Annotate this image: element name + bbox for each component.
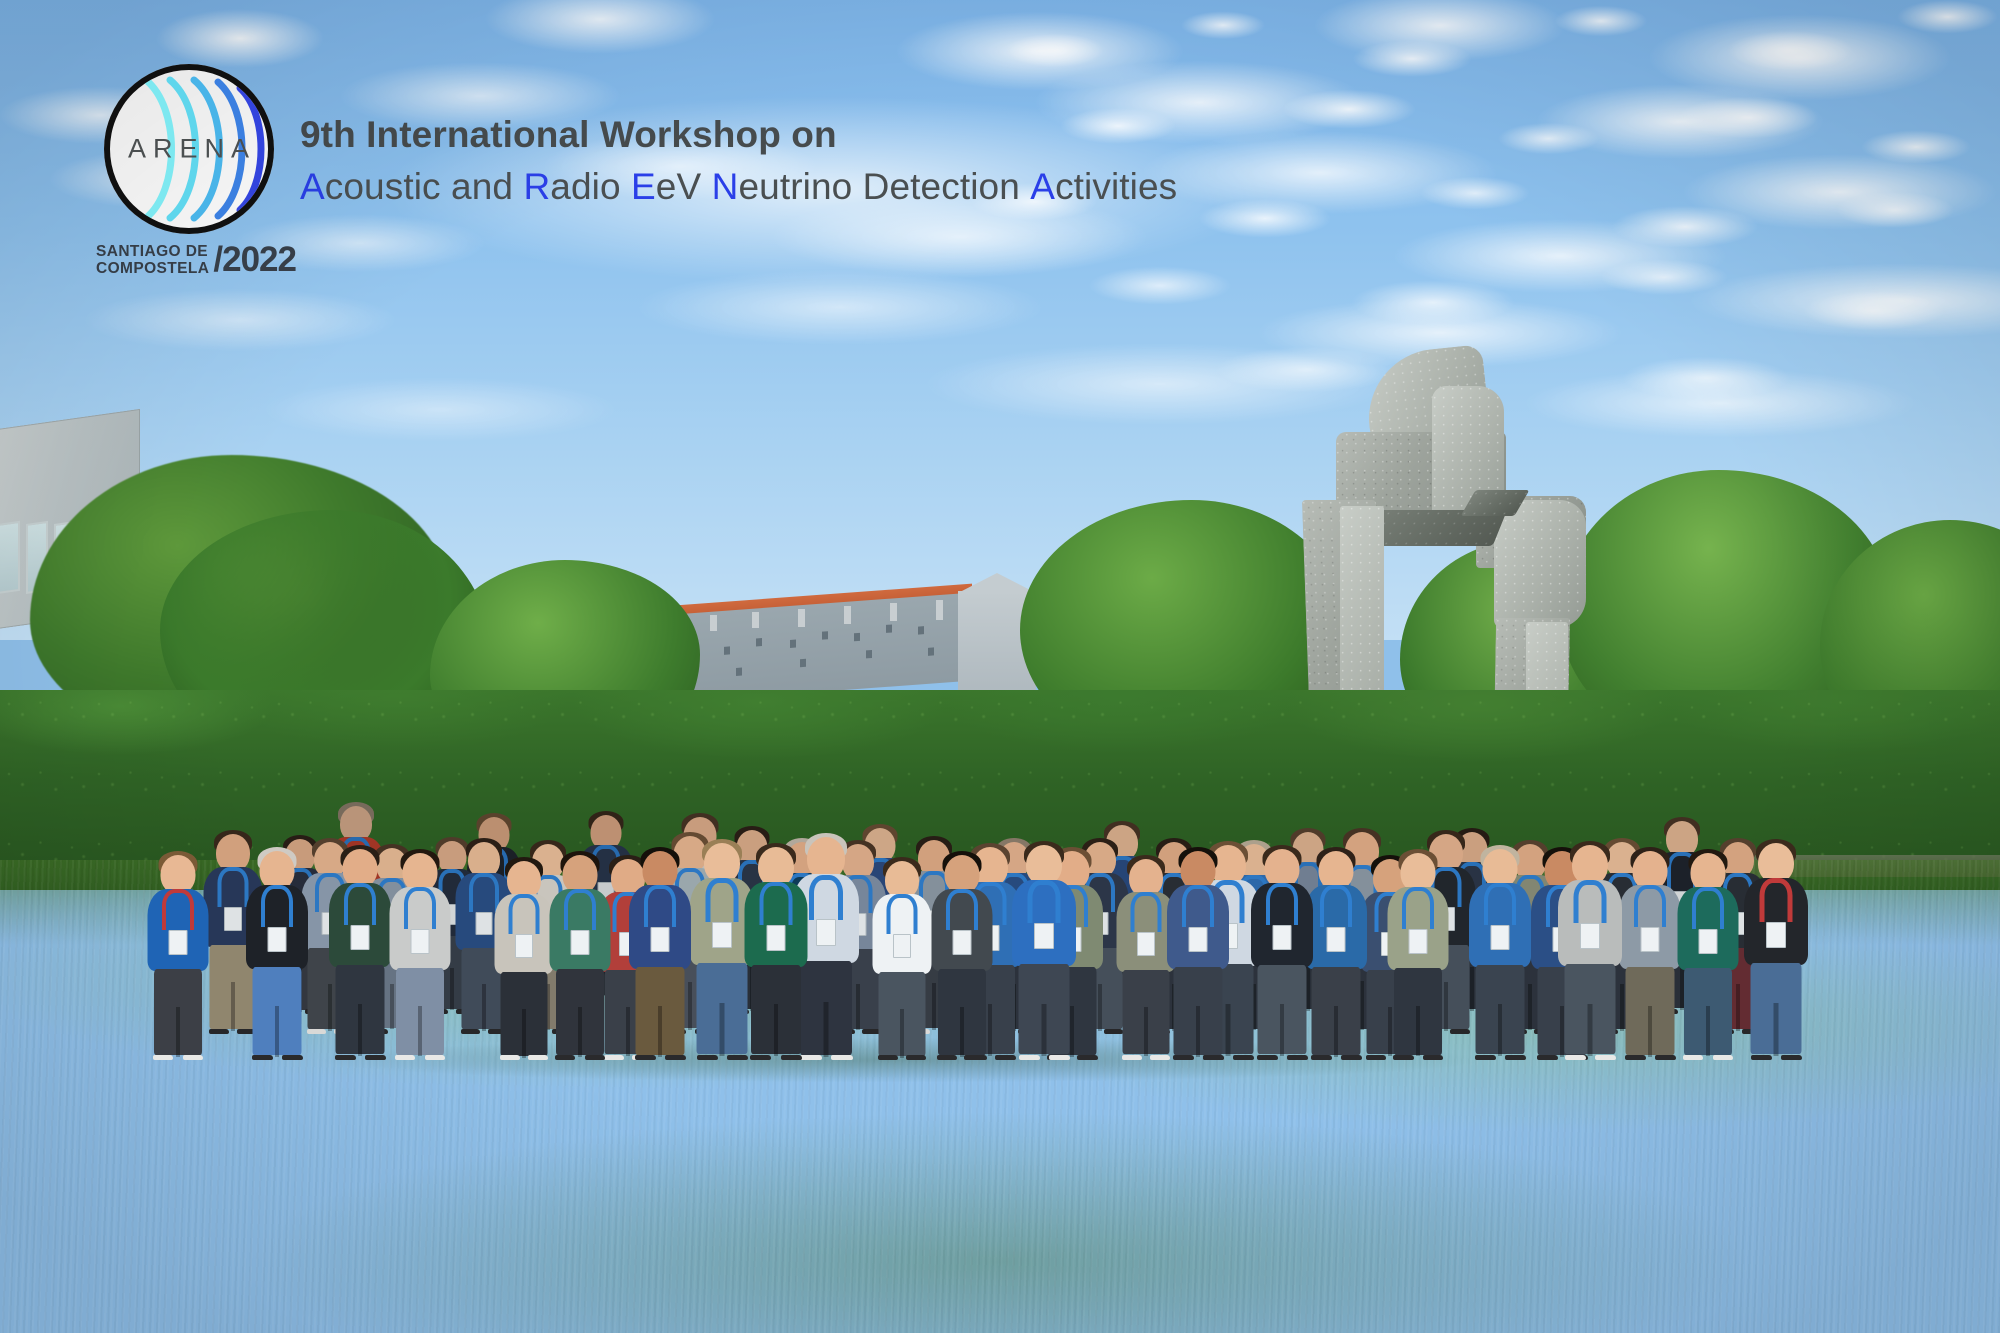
participant [147, 853, 209, 1058]
participant-shoe-right [1595, 1055, 1616, 1060]
participant-shoe-right [425, 1055, 445, 1060]
participant-lanyard [564, 889, 596, 930]
participant-badge [1580, 923, 1600, 949]
participant-lanyard [162, 889, 194, 930]
participant-leg-gap [1144, 1007, 1148, 1056]
participant-shoe-left [153, 1055, 173, 1060]
logo-separator: / [213, 240, 222, 279]
participant-shoe-left [209, 1029, 229, 1034]
participant-shoe-right [906, 1055, 926, 1060]
participant-leg-gap [482, 984, 486, 1031]
participant-shoe-left [1122, 1055, 1142, 1060]
participant-leg-gap [960, 1007, 964, 1057]
participant-leg-gap [176, 1007, 180, 1057]
participant [1387, 851, 1449, 1058]
participant-shoe-right [781, 1055, 802, 1060]
participant-shoe-right [1203, 1055, 1224, 1060]
participant-badge [224, 907, 242, 931]
participant-badge [712, 922, 732, 948]
workshop-title-line2: Acoustic and Radio EeV Neutrino Detectio… [300, 168, 1300, 207]
participant-leg-gap [358, 1004, 362, 1056]
participant-leg-gap [231, 982, 235, 1031]
participant-shoe-right [1423, 1055, 1443, 1060]
participant-shoe-left [1751, 1055, 1772, 1060]
participant-head [1758, 843, 1794, 883]
logo-year: 2022 [222, 240, 296, 279]
participant-shoe-left [1019, 1055, 1040, 1060]
conference-banner-image: ARENA SANTIAGO DE COMPOSTELA /2022 9th I… [0, 0, 2000, 1333]
title-segment-2: R [523, 166, 550, 207]
participant-shoe-left [1173, 1055, 1194, 1060]
banner-header: ARENA SANTIAGO DE COMPOSTELA /2022 9th I… [0, 0, 1450, 340]
participant-lanyard [706, 878, 739, 922]
participant-lanyard [887, 894, 918, 934]
participant-shoe-left [461, 1029, 480, 1034]
title-segment-4: E [631, 166, 656, 207]
participant-shoe-right [1077, 1055, 1098, 1060]
participant [1744, 841, 1809, 1058]
participant-badge [351, 925, 370, 950]
participant-head [758, 847, 794, 887]
participant-lanyard [404, 887, 436, 929]
title-segment-10: ctivities [1055, 166, 1177, 207]
participant-lanyard [809, 875, 843, 920]
participant-badge [953, 930, 972, 955]
participant [329, 847, 392, 1058]
participant-shoe-left [937, 1055, 957, 1060]
participant-shoe-left [1311, 1055, 1332, 1060]
workshop-title-block: 9th International Workshop on Acoustic a… [300, 116, 1300, 207]
participant-badge [169, 930, 188, 955]
participant-badge [816, 919, 836, 946]
participant-shoe-left [1366, 1055, 1386, 1060]
participant-lanyard [946, 889, 978, 930]
participant-badge [1409, 929, 1428, 954]
participant-leg-gap [720, 1003, 725, 1056]
participant-shoe-right [585, 1055, 605, 1060]
participant [246, 849, 309, 1058]
participant-lanyard [1320, 885, 1352, 927]
participant-leg-gap [900, 1009, 904, 1058]
participant-shoe-right [365, 1055, 386, 1060]
participant-badge [1034, 923, 1054, 949]
logo-wordmark: ARENA [104, 134, 274, 165]
participant-leg-gap [275, 1006, 279, 1057]
title-segment-9: A [1030, 166, 1055, 207]
participant [1167, 849, 1230, 1058]
participant [549, 853, 611, 1058]
participant-badge [1766, 922, 1786, 948]
title-segment-8: eutrino Detection [738, 166, 1030, 207]
participant-leg-gap [1042, 1004, 1047, 1056]
participant-shoe-left [395, 1055, 415, 1060]
participant-leg-gap [1416, 1006, 1420, 1056]
participant-lanyard [644, 885, 676, 927]
participant-lanyard [1484, 883, 1516, 925]
participant-shoe-left [1565, 1055, 1586, 1060]
participant [1677, 851, 1739, 1058]
participant [389, 851, 451, 1058]
participant-leg-gap [1774, 1003, 1779, 1056]
participant-badge [767, 925, 786, 951]
participant-lanyard [344, 883, 376, 925]
participant-leg-gap [658, 1006, 662, 1057]
participant-badge [515, 934, 533, 958]
participant-shoe-left [1257, 1055, 1278, 1060]
participant-leg-gap [774, 1004, 778, 1056]
participant-shoe-right [967, 1055, 987, 1060]
participant-shoe-left [1475, 1055, 1496, 1060]
participant [1251, 847, 1314, 1058]
participant-lanyard [1634, 885, 1666, 927]
participant-lanyard [1574, 880, 1607, 923]
participant-badge [476, 912, 493, 935]
participant-shoe-left [500, 1055, 520, 1060]
workshop-title-line1: 9th International Workshop on [300, 116, 1300, 154]
participant-shoe-left [1537, 1055, 1558, 1060]
logo-location-line1: SANTIAGO DE [96, 243, 208, 260]
participant-head [1026, 845, 1062, 885]
participant-shoe-right [1781, 1055, 1802, 1060]
participant [872, 859, 932, 1058]
participant-leg-gap [1280, 1004, 1284, 1056]
participant-shoe-right [1450, 1029, 1470, 1034]
participant-shoe-left [1393, 1055, 1413, 1060]
participant-lanyard [1028, 880, 1061, 923]
participant-leg-gap [522, 1009, 526, 1058]
participant-shoe-left [750, 1055, 771, 1060]
participant-shoe-right [1713, 1055, 1733, 1060]
participant-shoe-left [555, 1055, 575, 1060]
participant-lanyard [1760, 878, 1793, 922]
title-segment-3: adio [550, 166, 631, 207]
participant-shoe-right [1655, 1055, 1676, 1060]
participant-lanyard [760, 882, 793, 925]
participant-lanyard [1402, 887, 1434, 929]
participant [1558, 843, 1623, 1058]
participant-shoe-left [307, 1029, 326, 1034]
participant-shoe-right [528, 1055, 548, 1060]
participant-head [1572, 845, 1608, 885]
participant [1619, 849, 1682, 1058]
arena-logo: ARENA [104, 64, 274, 234]
participant-badge [1491, 925, 1510, 950]
participant-badge [411, 929, 430, 954]
group-of-participants [0, 580, 2000, 1060]
participant-lanyard [1182, 885, 1214, 927]
participant [744, 845, 808, 1058]
participant-lanyard [1692, 887, 1724, 929]
participant-badge [1189, 927, 1208, 952]
participant-shoe-right [1341, 1055, 1362, 1060]
participant-leg-gap [1648, 1006, 1652, 1057]
participant-badge [1137, 932, 1155, 956]
participant-shoe-right [183, 1055, 203, 1060]
title-segment-7: N [712, 166, 739, 207]
participant-shoe-right [1505, 1055, 1526, 1060]
participant-lanyard [218, 867, 249, 907]
participant-shoe-left [252, 1055, 273, 1060]
title-segment-6: V [676, 166, 711, 207]
participant-lanyard [509, 894, 540, 934]
participant-badge [1273, 925, 1292, 950]
participant-lanyard [261, 885, 293, 927]
participant [494, 859, 554, 1058]
participant-badge [893, 934, 911, 958]
logo-location-lines: SANTIAGO DE COMPOSTELA [96, 243, 209, 277]
participant-shoe-left [335, 1055, 356, 1060]
participant-leg-gap [1334, 1006, 1338, 1057]
participant-badge [1327, 927, 1346, 952]
participant-badge [1641, 927, 1660, 952]
participant [1305, 849, 1368, 1058]
participant-leg-gap [1588, 1004, 1593, 1056]
participant-lanyard [1266, 883, 1298, 925]
participant-leg-gap [1706, 1006, 1710, 1056]
logo-location-year: SANTIAGO DE COMPOSTELA /2022 [96, 240, 326, 280]
participant [931, 853, 993, 1058]
participant-shoe-right [665, 1055, 686, 1060]
title-segment-1: coustic and [325, 166, 524, 207]
participant-shoe-left [1683, 1055, 1703, 1060]
participant [1469, 847, 1532, 1058]
participant-lanyard [1131, 892, 1162, 932]
participant-badge [571, 930, 590, 955]
participant-badge [651, 927, 670, 952]
logo-separator-and-year: /2022 [213, 240, 296, 280]
participant-shoe-left [1625, 1055, 1646, 1060]
participant-shoe-right [282, 1055, 303, 1060]
participant-badge [1699, 929, 1718, 954]
title-segment-0: A [300, 166, 325, 207]
participant [629, 849, 692, 1058]
participant-shoe-right [1287, 1055, 1308, 1060]
participant [1012, 843, 1077, 1058]
participant-shoe-right [1049, 1055, 1070, 1060]
participant-shoe-left [697, 1055, 718, 1060]
participant-shoe-right [831, 1055, 853, 1060]
participant-shoe-left [635, 1055, 656, 1060]
participant-leg-gap [578, 1007, 582, 1057]
participant-leg-gap [418, 1006, 422, 1056]
participant-leg-gap [824, 1002, 829, 1057]
participant-leg-gap [1196, 1006, 1200, 1057]
participant-head [704, 843, 740, 883]
title-segment-5: e [656, 166, 677, 207]
participant-shoe-left [878, 1055, 898, 1060]
participant-leg-gap [1498, 1004, 1502, 1056]
logo-location-line2: COMPOSTELA [96, 260, 209, 277]
participant-badge [268, 927, 287, 952]
